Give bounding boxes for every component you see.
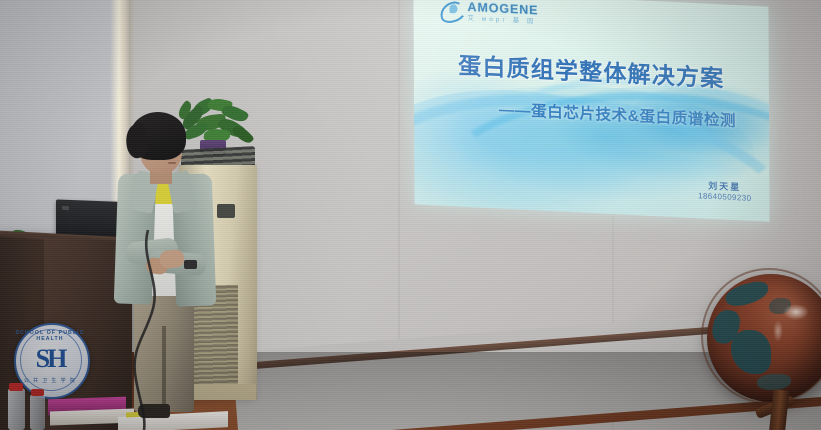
slide-logo: AMOGENE 艾 морг 基 因 xyxy=(439,0,538,25)
bottle-cap xyxy=(31,389,44,396)
bottle-cap xyxy=(9,383,23,391)
emblem-monogram: SH xyxy=(14,323,86,395)
photo-scene: AMOGENE 艾 морг 基 因 蛋白质组学整体解决方案 ——蛋白芯片技术&… xyxy=(0,0,821,430)
water-bottle xyxy=(30,394,45,430)
power-cable xyxy=(100,230,210,430)
water-bottle xyxy=(8,388,25,430)
laptop-logo xyxy=(62,206,69,210)
presenter-mouth xyxy=(168,162,176,164)
emblem-bottom-text: 公 共 卫 生 学 院 xyxy=(14,377,86,384)
leaf-swoosh-icon xyxy=(439,0,462,21)
slide-presenter-info: 刘天星 18640509230 xyxy=(698,179,751,205)
projected-slide: AMOGENE 艾 морг 基 因 蛋白质组学整体解决方案 ——蛋白芯片技术&… xyxy=(413,0,769,222)
globe-highlight xyxy=(773,320,783,342)
globe-highlight xyxy=(783,304,809,320)
logo-subtext: 艾 морг 基 因 xyxy=(468,15,539,25)
